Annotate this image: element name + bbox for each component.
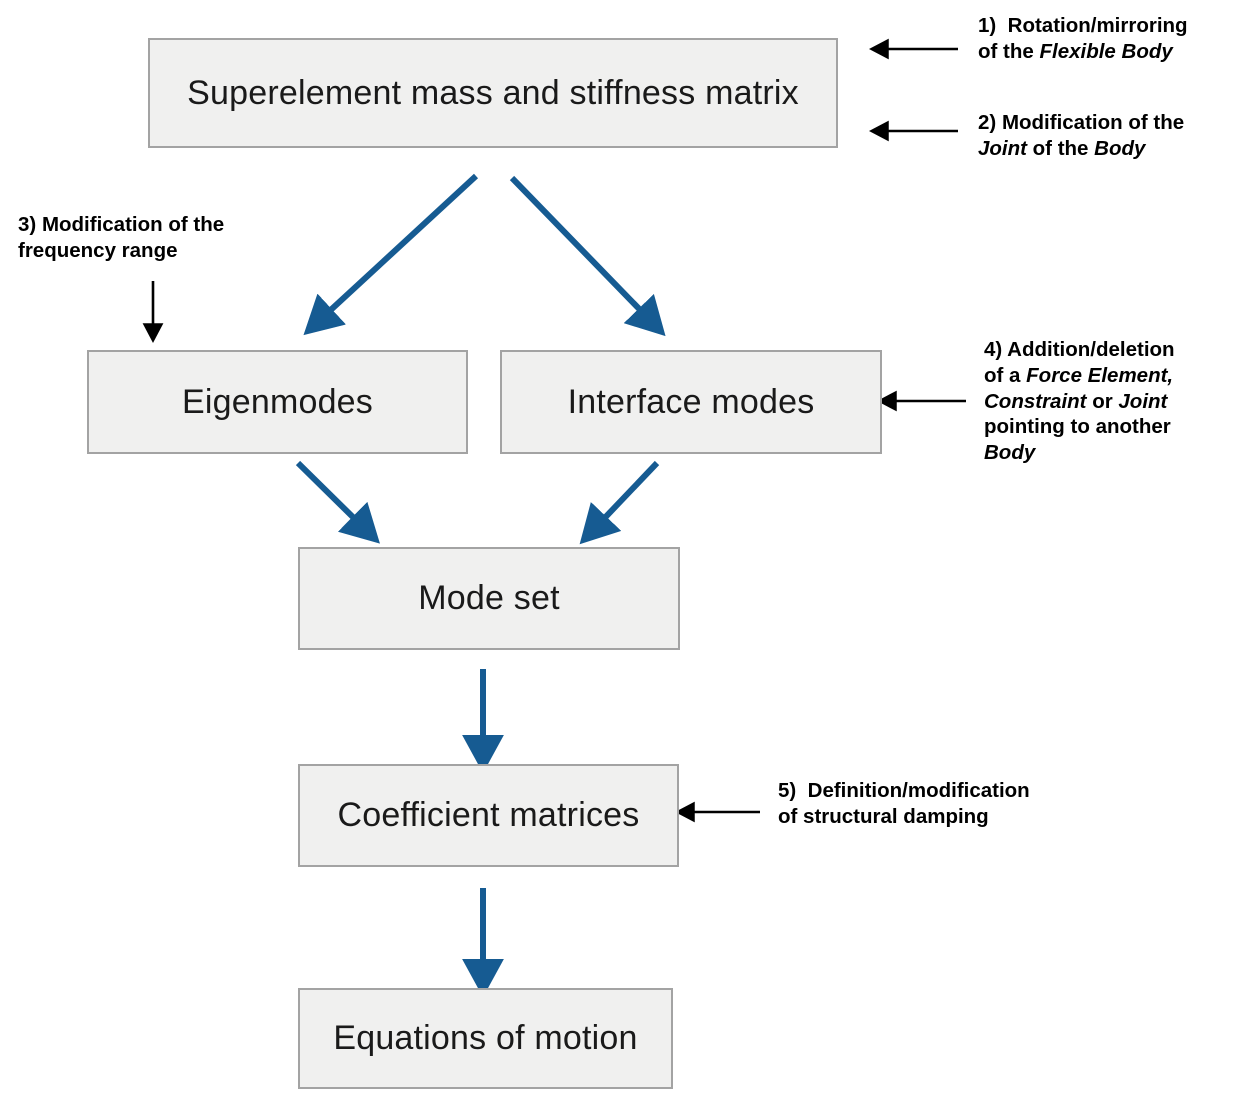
annotation-1-number: 1) [978, 14, 996, 37]
annotation-4-text-1: Addition/deletion [1007, 338, 1174, 361]
box-eigenmodes[interactable]: Eigenmodes [87, 350, 468, 454]
connector-superelement-to-eigenmodes [322, 176, 476, 318]
annotation-4-text-4: pointing to another [984, 415, 1171, 438]
annotation-4-number: 4) [984, 338, 1002, 361]
annotation-1-text-2b: Flexible Body [1040, 40, 1173, 63]
diagram-canvas: Superelement mass and stiffness matrix E… [0, 0, 1242, 1098]
connector-eigenmodes-to-mode-set [298, 463, 362, 526]
box-superelement-label: Superelement mass and stiffness matrix [187, 74, 799, 113]
annotation-3: 3) Modification of the frequency range [18, 212, 298, 264]
box-mode-set-label: Mode set [418, 579, 559, 618]
annotation-1: 1) Rotation/mirroring of the Flexible Bo… [978, 13, 1242, 65]
annotation-4-text-5: Body [984, 441, 1035, 464]
box-eigenmodes-label: Eigenmodes [182, 383, 373, 422]
annotation-4-text-3a: Constraint [984, 390, 1087, 413]
box-coefficient-matrices-label: Coefficient matrices [338, 796, 640, 835]
annotation-1-text-1: Rotation/mirroring [1008, 14, 1188, 37]
annotation-4-text-3b: or [1087, 390, 1119, 413]
annotation-5-line-1: 5) Definition/modification [778, 778, 1108, 804]
box-mode-set[interactable]: Mode set [298, 547, 680, 650]
annotation-5-number: 5) [778, 779, 796, 802]
annotation-3-text-1: Modification of the [42, 213, 224, 236]
annotation-3-line-2: frequency range [18, 238, 298, 264]
annotation-2-text-2a: Joint [978, 137, 1027, 160]
annotation-4-line-5: Body [984, 440, 1242, 466]
annotation-5: 5) Definition/modification of structural… [778, 778, 1108, 830]
annotation-1-line-1: 1) Rotation/mirroring [978, 13, 1242, 39]
annotation-1-text-2a: of the [978, 40, 1040, 63]
box-coefficient-matrices[interactable]: Coefficient matrices [298, 764, 679, 867]
annotation-2-text-1: Modification of the [1002, 111, 1184, 134]
box-superelement[interactable]: Superelement mass and stiffness matrix [148, 38, 838, 148]
annotation-3-number: 3) [18, 213, 36, 236]
box-interface-modes[interactable]: Interface modes [500, 350, 882, 454]
annotation-2-text-2c: Body [1094, 137, 1145, 160]
annotation-3-line-1: 3) Modification of the [18, 212, 298, 238]
box-equations-of-motion-label: Equations of motion [333, 1019, 637, 1058]
annotation-4-text-3c: Joint [1118, 390, 1167, 413]
annotation-2-text-2b: of the [1027, 137, 1094, 160]
connector-interface-modes-to-mode-set [597, 463, 657, 526]
annotation-4-text-2a: of a [984, 364, 1026, 387]
annotation-1-line-2: of the Flexible Body [978, 39, 1242, 65]
annotation-4: 4) Addition/deletion of a Force Element,… [984, 337, 1242, 466]
annotation-2-line-2: Joint of the Body [978, 136, 1242, 162]
box-interface-modes-label: Interface modes [568, 383, 815, 422]
annotation-4-line-4: pointing to another [984, 414, 1242, 440]
annotation-5-line-2: of structural damping [778, 804, 1108, 830]
annotation-5-text-1: Definition/modification [808, 779, 1030, 802]
annotation-4-line-1: 4) Addition/deletion [984, 337, 1242, 363]
annotation-2-line-1: 2) Modification of the [978, 110, 1242, 136]
annotation-5-text-2: of structural damping [778, 805, 989, 828]
annotation-4-line-2: of a Force Element, [984, 363, 1242, 389]
annotation-4-line-3: Constraint or Joint [984, 389, 1242, 415]
connector-superelement-to-interface-modes [512, 178, 648, 318]
box-equations-of-motion[interactable]: Equations of motion [298, 988, 673, 1089]
annotation-2-number: 2) [978, 111, 996, 134]
annotation-2: 2) Modification of the Joint of the Body [978, 110, 1242, 162]
annotation-4-text-2b: Force Element, [1026, 364, 1173, 387]
annotation-3-text-2: frequency range [18, 239, 178, 262]
